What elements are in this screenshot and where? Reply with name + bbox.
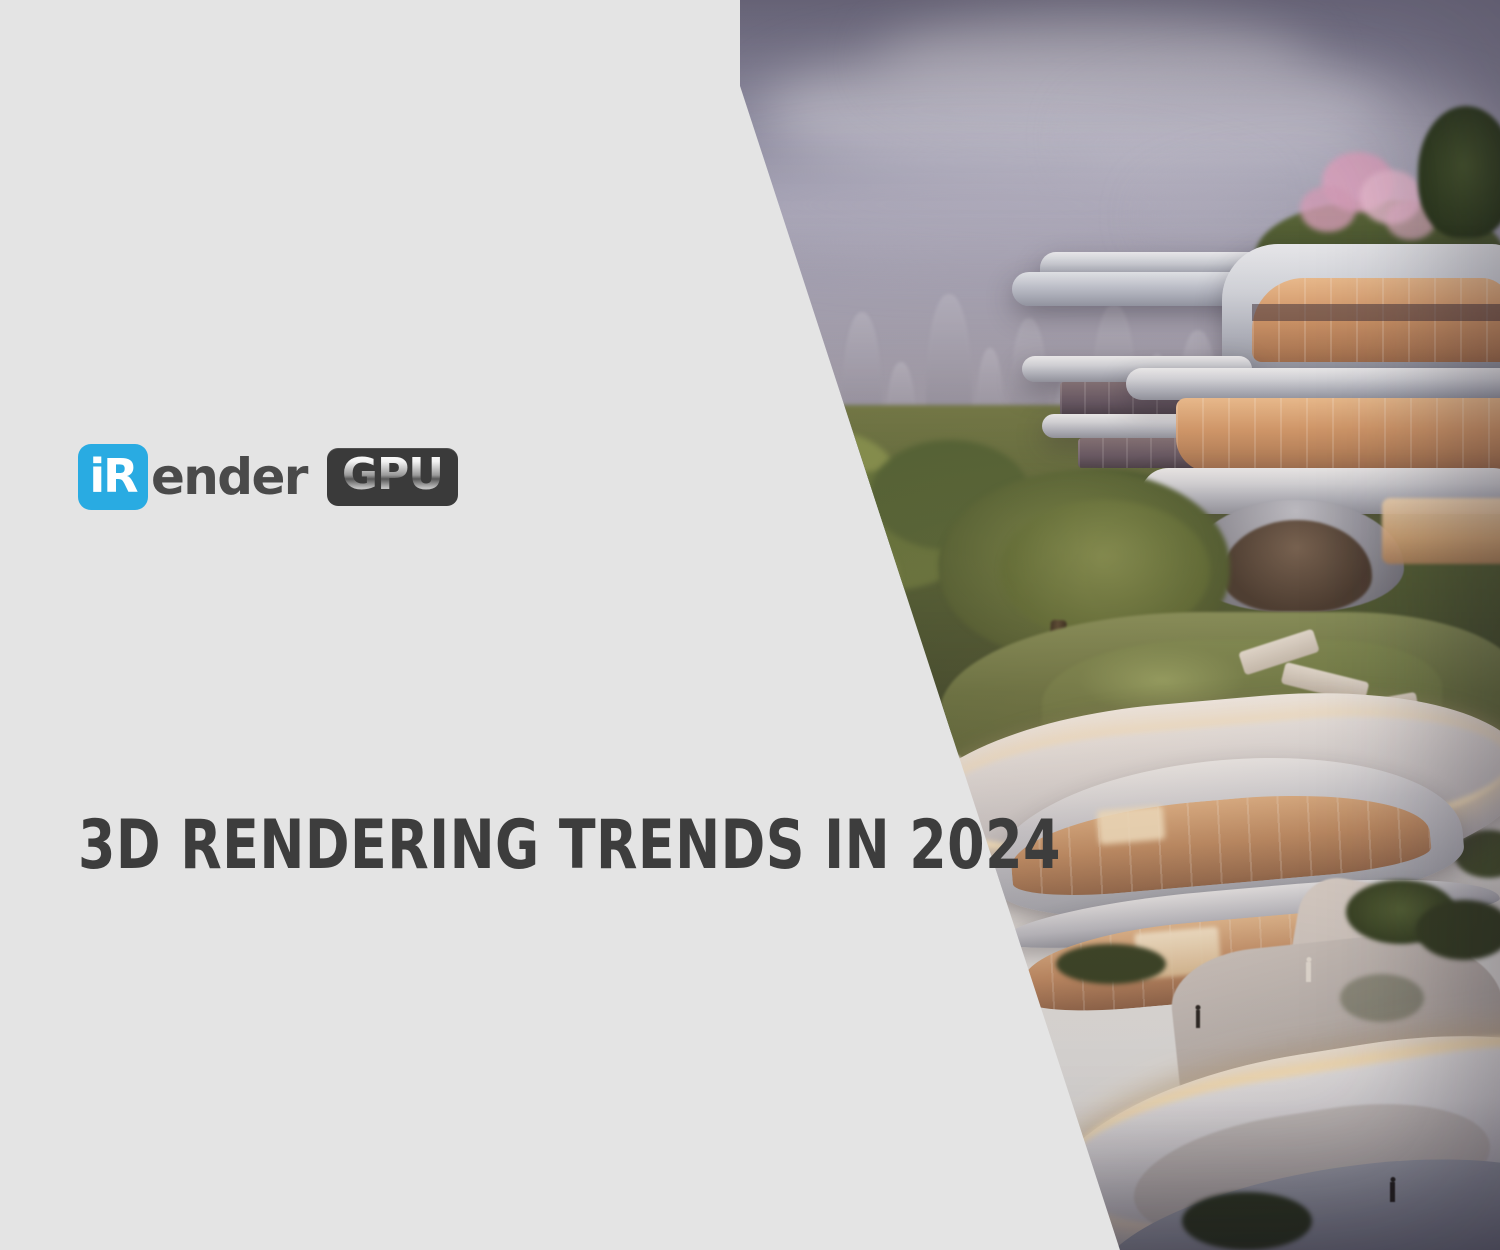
person-figure [1306,962,1311,982]
glass-shadow-band [1252,304,1500,321]
irender-gpu-logo[interactable]: iR ender GPU [78,442,458,512]
shrub-cluster [1056,944,1166,984]
shrub-cluster [1340,974,1424,1022]
mountain-peak [770,340,804,490]
person-figure [1390,1182,1395,1202]
brand-wordmark: ender [151,452,307,502]
left-content-pane: iR ender GPU 3D RENDERING TRENDS IN 2024 [0,0,740,1250]
page-title: 3D RENDERING TRENDS IN 2024 [78,812,764,880]
gpu-badge-label: GPU [342,453,443,501]
irender-logo-badge-icon: iR [78,444,148,510]
interior-glow-panel [1382,498,1500,564]
gpu-badge: GPU [327,448,458,506]
shrub-cluster [1182,1192,1312,1250]
mountain-peak [804,378,830,490]
banner: iR ender GPU 3D RENDERING TRENDS IN 2024 [0,0,1500,1250]
person-figure [1196,1010,1200,1028]
curved-glass-facade [1176,398,1500,472]
cherry-blossom-tree [1300,186,1356,232]
conifer-tree [1418,106,1500,238]
building-level-mid [1126,368,1500,400]
pavilion-interior-light [1097,805,1166,845]
tree-canopy [730,520,900,640]
